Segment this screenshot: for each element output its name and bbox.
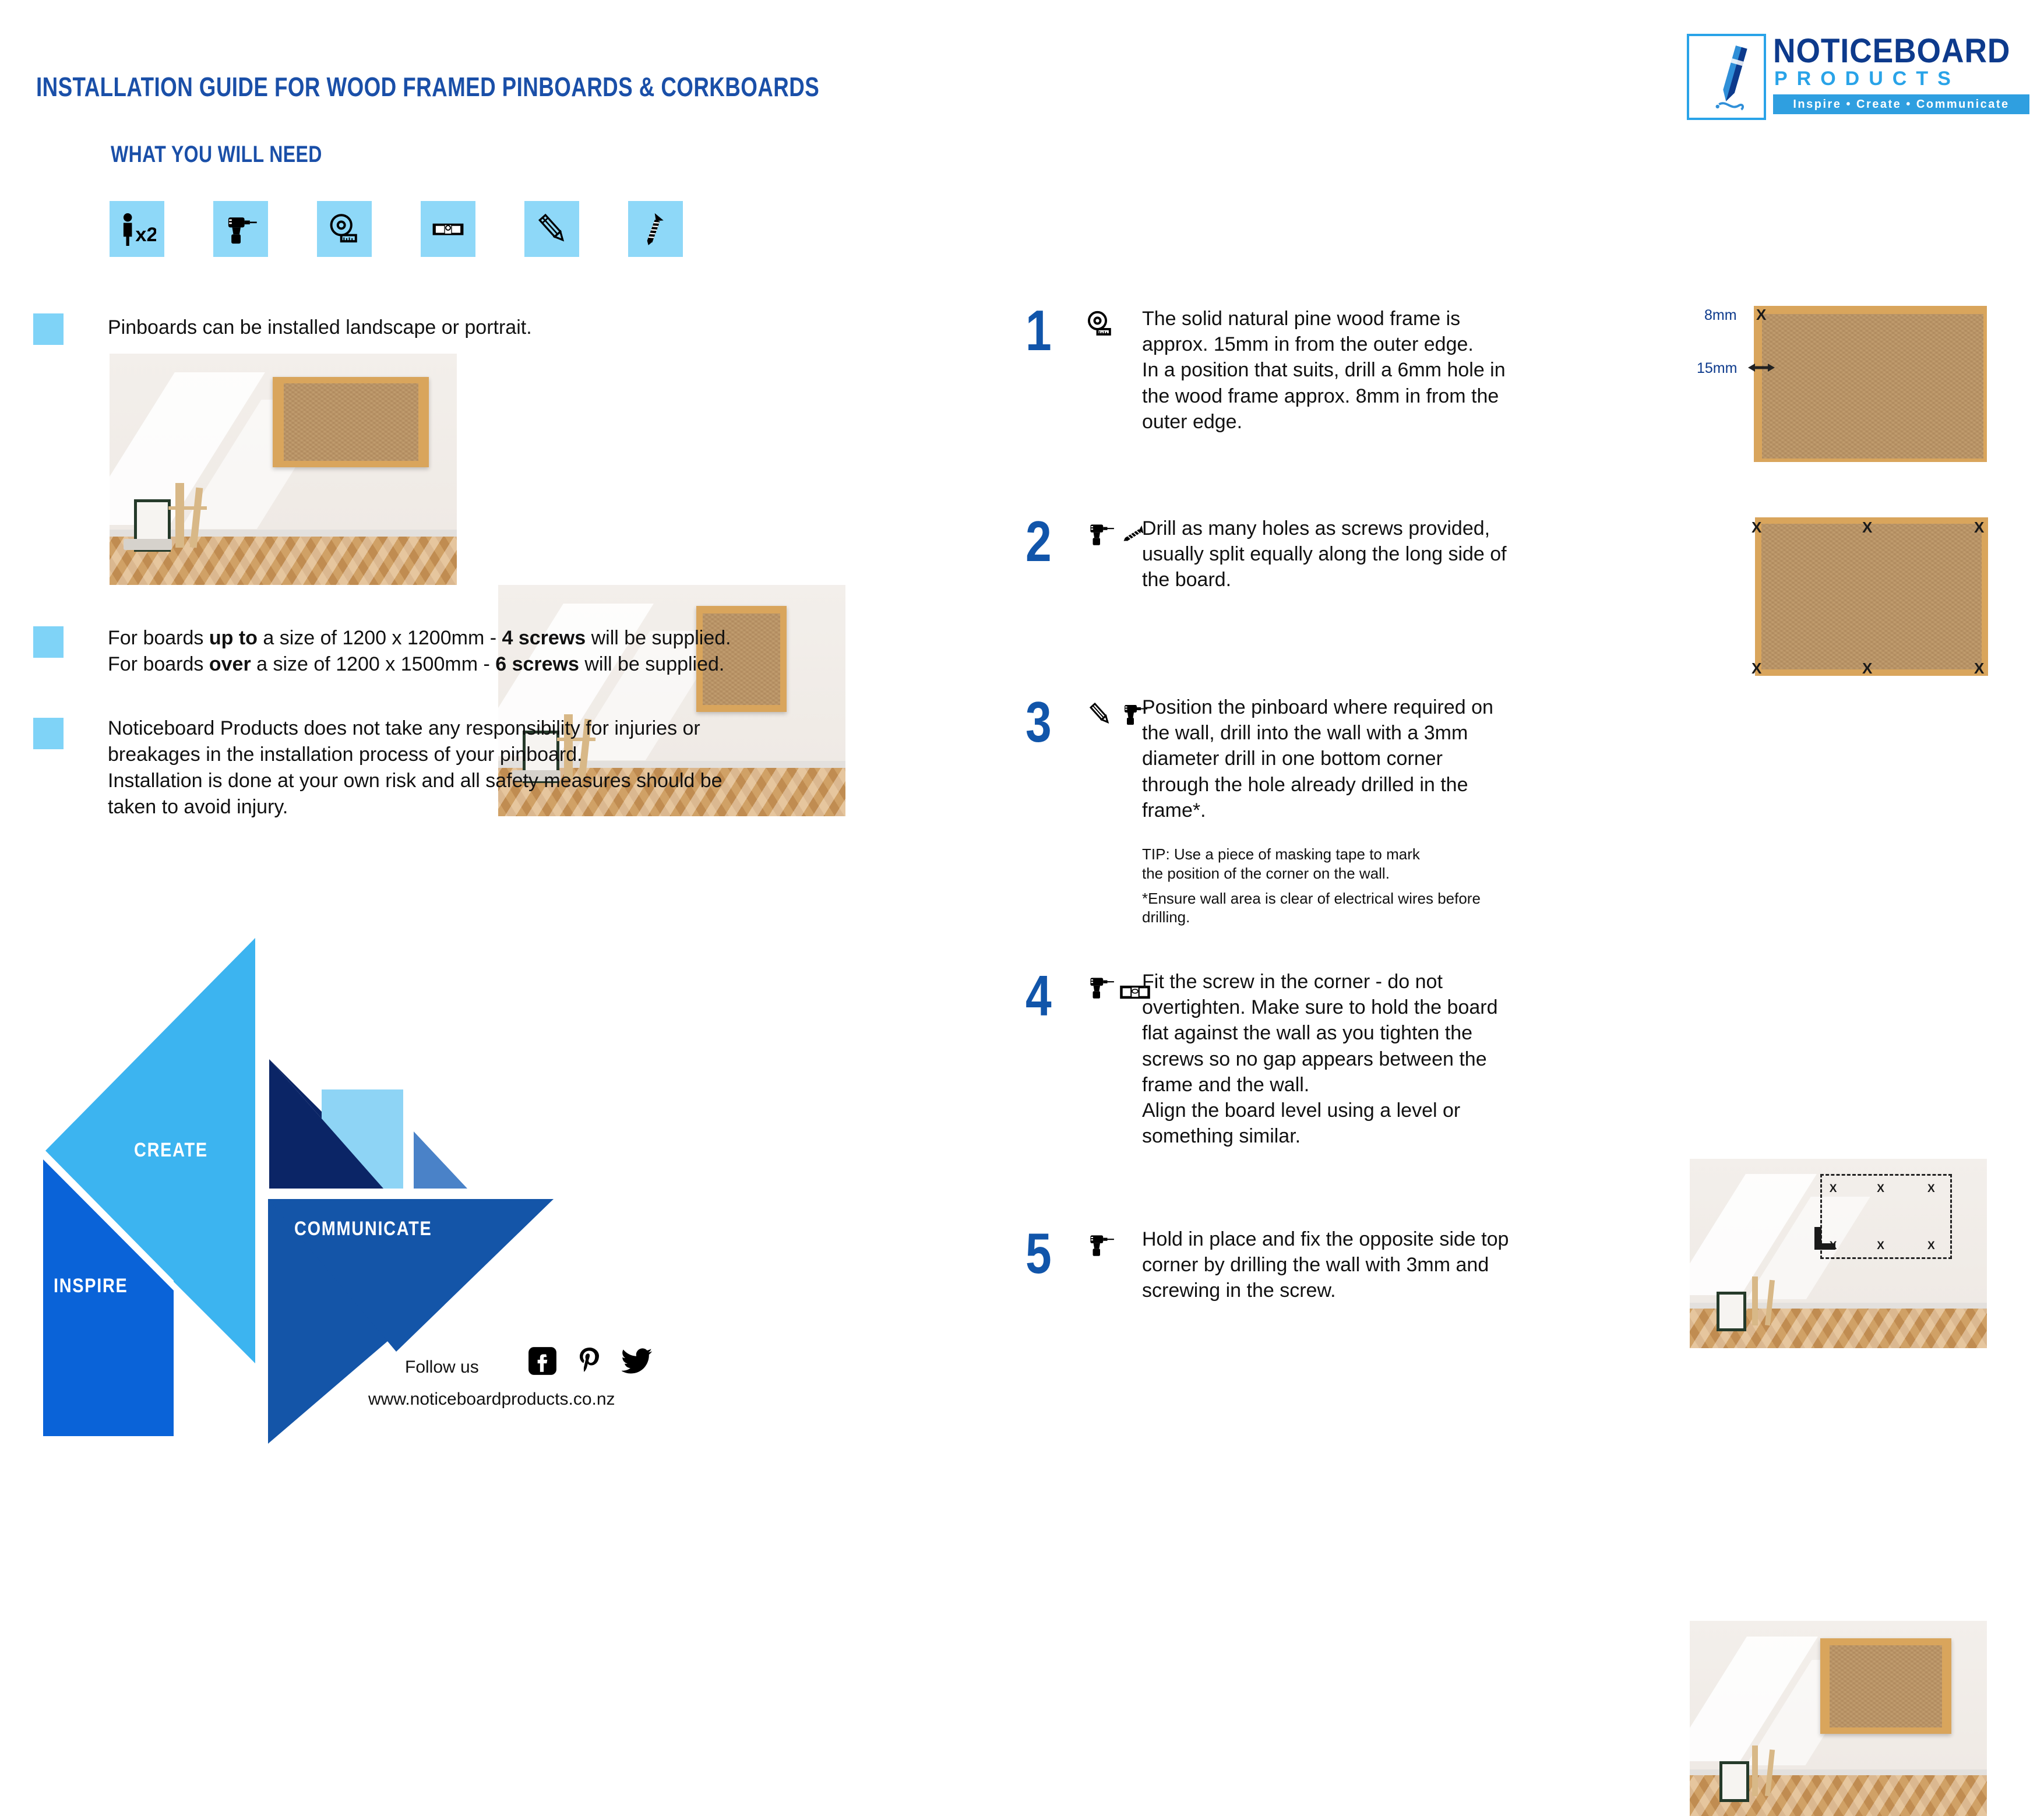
corner-marker-icon	[1813, 1227, 1837, 1250]
step-4-line-5: frame and the wall.	[1142, 1072, 1498, 1098]
step-2-line-2: usually split equally along the long sid…	[1142, 541, 1507, 567]
step-5-icons	[1084, 1229, 1116, 1263]
x-mark: X	[1830, 1183, 1837, 1194]
step-5-line-2: corner by drilling the wall with 3mm and	[1142, 1252, 1509, 1278]
step-2-diagram: X X X X X X	[1755, 517, 1988, 676]
step-3-icons	[1084, 697, 1150, 731]
drill-icon	[1084, 519, 1116, 549]
step-3-line-2: the wall, drill into the wall with a 3mm	[1142, 720, 1493, 746]
step-3-line-5: frame*.	[1142, 798, 1493, 823]
step-4-line-2: overtighten. Make sure to hold the board	[1142, 995, 1498, 1020]
brand-logo: NOTICEBOARD PRODUCTS Inspire • Create • …	[1687, 34, 2036, 121]
step-3-tip-line-2: the position of the corner on the wall.	[1142, 864, 1481, 883]
disclaimer-line-4: taken to avoid injury.	[108, 794, 723, 820]
step-3-line-4: through the hole already drilled in the	[1142, 772, 1493, 798]
bullet-square-3	[33, 718, 64, 749]
bullet-square-2	[33, 626, 64, 658]
x-mark: X	[1756, 307, 1766, 322]
photo-landscape-install	[110, 354, 457, 585]
step-5-line-1: Hold in place and fix the opposite side …	[1142, 1226, 1509, 1252]
social-links	[527, 1346, 653, 1376]
follow-us-label: Follow us	[405, 1357, 479, 1377]
screw-icon	[636, 210, 675, 248]
x-mark: X	[1877, 1240, 1884, 1251]
bullet-square-1	[33, 313, 64, 345]
tool-screw	[628, 201, 683, 257]
triangle-steel	[414, 1131, 467, 1189]
step-3-tips: TIP: Use a piece of masking tape to mark…	[1142, 845, 1481, 927]
note-screws-line-1: For boards up to a size of 1200 x 1200mm…	[108, 625, 731, 651]
tool-two-people: x2	[110, 201, 164, 257]
step-3-diagram: X X X X X X	[1690, 1159, 1987, 1348]
step-3-tip-line-4: drilling.	[1142, 908, 1481, 927]
step-number-2: 2	[1025, 513, 1052, 570]
step-2-line-1: Drill as many holes as screws provided,	[1142, 516, 1507, 541]
step-5-text: Hold in place and fix the opposite side …	[1142, 1226, 1509, 1304]
logo-products: PRODUCTS	[1774, 68, 1960, 90]
step-4-diagram	[1690, 1621, 1987, 1816]
step-1-line-5: outer edge.	[1142, 409, 1506, 435]
drill-icon	[221, 210, 260, 248]
page-title: INSTALLATION GUIDE FOR WOOD FRAMED PINBO…	[36, 71, 819, 103]
triangle-label-communicate: COMMUNICATE	[294, 1218, 432, 1240]
disclaimer-line-3: Installation is done at your own risk an…	[108, 768, 723, 794]
note-screw-quantities: For boards up to a size of 1200 x 1200mm…	[108, 625, 731, 678]
x-mark: X	[1862, 520, 1872, 535]
step-2-text: Drill as many holes as screws provided, …	[1142, 516, 1507, 593]
step-4-icons	[1084, 972, 1151, 1005]
logo-name: NOTICEBOARD	[1773, 31, 2010, 70]
step-3-text: Position the pinboard where required on …	[1142, 694, 1493, 823]
svg-text:x2: x2	[135, 224, 156, 246]
step-2-line-3: the board.	[1142, 567, 1507, 593]
person-x2-icon: x2	[118, 210, 156, 248]
x-mark: X	[1862, 661, 1872, 676]
step-1-line-4: the wood frame approx. 8mm in from the	[1142, 383, 1506, 409]
pinterest-icon[interactable]	[576, 1346, 603, 1376]
step-number-5: 5	[1025, 1225, 1052, 1282]
step-1-text: The solid natural pine wood frame is app…	[1142, 306, 1506, 435]
tool-pencil	[524, 201, 579, 257]
step-4-line-3: flat against the wall as you tighten the	[1142, 1020, 1498, 1046]
step-4-line-7: something similar.	[1142, 1123, 1498, 1149]
step-4-text: Fit the screw in the corner - do not ove…	[1142, 969, 1498, 1149]
x-mark: X	[1927, 1240, 1935, 1251]
tool-drill	[213, 201, 268, 257]
note-landscape-portrait: Pinboards can be installed landscape or …	[108, 315, 532, 341]
twitter-icon[interactable]	[622, 1347, 653, 1375]
tool-tape-measure	[317, 201, 372, 257]
drill-icon	[1084, 1229, 1116, 1260]
tape-measure-icon	[1084, 308, 1116, 340]
x-mark: X	[1974, 661, 1984, 676]
step-1-diagram: X	[1754, 306, 1987, 463]
step-5-line-3: screwing in the screw.	[1142, 1278, 1509, 1303]
step-3-line-3: diameter drill in one bottom corner	[1142, 746, 1493, 771]
corkboard-mounted	[1820, 1638, 1951, 1734]
step-number-3: 3	[1025, 693, 1052, 750]
step-number-1: 1	[1025, 302, 1052, 359]
x-mark: X	[1927, 1183, 1935, 1194]
x-mark: X	[1752, 661, 1761, 676]
step-1-line-3: In a position that suits, drill a 6mm ho…	[1142, 357, 1506, 383]
step-1-line-1: The solid natural pine wood frame is	[1142, 306, 1506, 332]
step-1-icons	[1084, 308, 1116, 340]
disclaimer-line-2: breakages in the installation process of…	[108, 742, 723, 768]
x-mark: X	[1877, 1183, 1884, 1194]
pencil-icon	[533, 210, 571, 248]
step-4-line-4: screws so no gap appears between the	[1142, 1046, 1498, 1072]
website-url[interactable]: www.noticeboardproducts.co.nz	[368, 1390, 615, 1409]
step-1-line-2: approx. 15mm in from the outer edge.	[1142, 332, 1506, 357]
step-number-4: 4	[1025, 967, 1052, 1024]
section-heading-what-you-will-need: WHAT YOU WILL NEED	[111, 142, 322, 168]
step-4-line-1: Fit the screw in the corner - do not	[1142, 969, 1498, 995]
x-mark: X	[1974, 520, 1984, 535]
tools-row: x2	[110, 201, 683, 257]
drill-icon	[1084, 972, 1116, 1002]
label-8mm: 8mm	[1704, 307, 1737, 324]
corkboard-landscape	[273, 377, 429, 467]
facebook-icon[interactable]	[527, 1346, 558, 1376]
note-disclaimer: Noticeboard Products does not take any r…	[108, 715, 723, 820]
triangle-label-create: CREATE	[134, 1139, 208, 1162]
pencil-icon	[1084, 699, 1115, 728]
logo-tagline: Inspire • Create • Communicate	[1773, 94, 2029, 114]
label-15mm: 15mm	[1697, 360, 1737, 377]
triangle-label-inspire: INSPIRE	[54, 1275, 128, 1297]
arrow-15mm-icon	[1748, 361, 1775, 374]
note-screws-line-2: For boards over a size of 1200 x 1500mm …	[108, 651, 731, 678]
logo-pen-box	[1687, 34, 1766, 120]
step-4-line-6: Align the board level using a level or	[1142, 1098, 1498, 1123]
tool-spirit-level	[421, 201, 475, 257]
spirit-level-icon	[429, 210, 467, 248]
step-3-tip-line-1: TIP: Use a piece of masking tape to mark	[1142, 845, 1481, 864]
pen-icon	[1689, 36, 1764, 118]
x-mark: X	[1752, 520, 1761, 535]
step-2-icons	[1084, 517, 1151, 552]
disclaimer-line-1: Noticeboard Products does not take any r…	[108, 715, 723, 742]
step-3-tip-line-3: *Ensure wall area is clear of electrical…	[1142, 889, 1481, 908]
tape-measure-icon	[325, 210, 364, 248]
step-3-line-1: Position the pinboard where required on	[1142, 694, 1493, 720]
